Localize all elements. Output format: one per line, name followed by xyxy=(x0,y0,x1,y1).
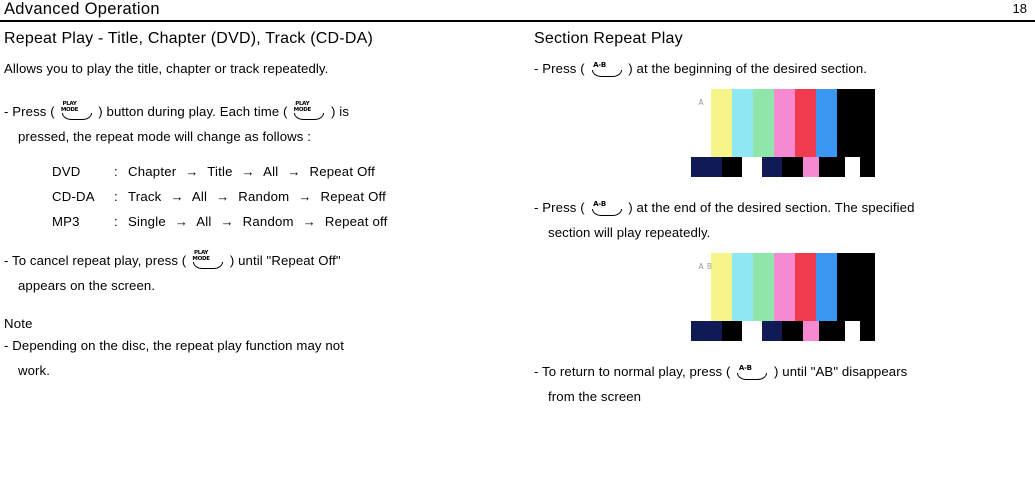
left-bullet-1: - Press ( PLAY MODE ) button during play… xyxy=(4,99,524,124)
ab-button-icon[interactable]: A-B xyxy=(590,60,624,77)
mode-step: Single xyxy=(128,214,166,229)
arrow-right-icon: → xyxy=(170,214,193,229)
bar-red xyxy=(795,89,816,157)
color-bars xyxy=(691,253,875,321)
button-cap-shape xyxy=(193,262,223,269)
strip-white xyxy=(845,321,860,341)
left-section-title: Repeat Play - Title, Chapter (DVD), Trac… xyxy=(4,30,524,48)
osd-text: A xyxy=(699,98,705,107)
arrow-right-icon: → xyxy=(293,189,316,204)
ab-button-icon[interactable]: A-B xyxy=(590,199,624,216)
ab-button-label: A-B xyxy=(590,62,624,69)
bar-black xyxy=(837,253,874,321)
bar-red xyxy=(795,253,816,321)
left-bullet-1-line2: pressed, the repeat mode will change as … xyxy=(4,124,524,149)
color-bars xyxy=(691,89,875,157)
table-row: CD-DA : Track → All → Random → Repeat Of… xyxy=(52,184,387,209)
bar-magenta xyxy=(774,89,795,157)
bullet-2-text-pre: - To cancel repeat play, press ( xyxy=(4,253,186,268)
mode-step: Repeat Off xyxy=(320,189,386,204)
mode-step: Random xyxy=(238,189,289,204)
arrow-right-icon: → xyxy=(298,214,321,229)
arrow-right-icon: → xyxy=(215,214,238,229)
strip-black xyxy=(819,321,845,341)
bullet-1-text-mid: ) button during play. Each time ( xyxy=(98,104,287,119)
right-bullet-3-line2: from the screen xyxy=(534,384,1031,409)
right-bullet-1: - Press ( A-B ) at the beginning of the … xyxy=(534,56,1031,81)
mode-name-mp3: MP3 xyxy=(52,209,114,234)
lower-pattern-strip xyxy=(691,157,875,177)
page-number: 18 xyxy=(1013,1,1027,16)
mode-sequence-cdda: Track → All → Random → Repeat Off xyxy=(128,184,387,209)
play-mode-button-label: PLAY MODE xyxy=(60,102,94,113)
strip-navy xyxy=(691,157,722,177)
tv-screen-illustration-1: A xyxy=(691,89,875,177)
note-line-1: - Depending on the disc, the repeat play… xyxy=(4,333,524,358)
lower-pattern-strip xyxy=(691,321,875,341)
mode-step: All xyxy=(196,214,211,229)
mode-sequence-mp3: Single → All → Random → Repeat off xyxy=(128,209,387,234)
mode-colon: : xyxy=(114,209,128,234)
ab-button-label: A-B xyxy=(590,201,624,208)
left-bullet-2: - To cancel repeat play, press ( PLAY MO… xyxy=(4,248,524,273)
table-row: DVD : Chapter → Title → All → Repeat Off xyxy=(52,159,387,184)
strip-black xyxy=(782,157,802,177)
strip-black xyxy=(722,157,742,177)
arrow-right-icon: → xyxy=(180,164,203,179)
ab-button-icon[interactable]: A-B xyxy=(735,363,769,380)
ab-label-line1: A-B xyxy=(735,365,769,372)
bar-cyan xyxy=(732,253,753,321)
bar-blue xyxy=(816,89,837,157)
note-heading: Note xyxy=(4,316,524,331)
ab-label-line1: A-B xyxy=(590,62,624,69)
bar-yellow xyxy=(711,253,732,321)
right-bullet-3: - To return to normal play, press ( A-B … xyxy=(534,359,1031,384)
strip-navy xyxy=(762,157,782,177)
bar-yellow xyxy=(711,89,732,157)
bullet-1-text-post: ) is xyxy=(331,104,349,119)
arrow-right-icon: → xyxy=(282,164,305,179)
bullet-1-text-pre: - Press ( xyxy=(4,104,55,119)
bar-cyan xyxy=(732,89,753,157)
bar-black xyxy=(837,89,874,157)
mode-step: Title xyxy=(207,164,232,179)
repeat-mode-table: DVD : Chapter → Title → All → Repeat Off… xyxy=(52,159,387,234)
spacer xyxy=(534,341,1031,359)
mode-step: All xyxy=(192,189,207,204)
strip-white xyxy=(845,157,860,177)
right-bullet-2-line2: section will play repeatedly. xyxy=(534,220,1031,245)
button-cap-shape xyxy=(592,70,622,77)
spacer xyxy=(534,81,1031,89)
spacer xyxy=(534,245,1031,253)
bullet-1-text-post: ) at the beginning of the desired sectio… xyxy=(628,61,867,76)
page-title: Advanced Operation xyxy=(4,0,160,19)
button-cap-shape xyxy=(62,113,92,120)
page-header: Advanced Operation 18 xyxy=(0,0,1035,22)
bar-blue xyxy=(816,253,837,321)
mode-step: All xyxy=(263,164,278,179)
arrow-right-icon: → xyxy=(237,164,260,179)
spacer xyxy=(4,238,524,248)
osd-text: A B xyxy=(699,262,713,271)
play-mode-button-label: PLAY MODE xyxy=(191,251,225,262)
note-line-2: work. xyxy=(4,358,524,383)
left-column: Repeat Play - Title, Chapter (DVD), Trac… xyxy=(4,30,524,383)
mode-colon: : xyxy=(114,159,128,184)
tv-screen-illustration-2: A B xyxy=(691,253,875,341)
spacer xyxy=(4,81,524,99)
bar-magenta xyxy=(774,253,795,321)
arrow-right-icon: → xyxy=(211,189,234,204)
right-column: Section Repeat Play - Press ( A-B ) at t… xyxy=(534,30,1031,409)
strip-black xyxy=(819,157,845,177)
strip-black xyxy=(860,157,875,177)
mode-step: Repeat off xyxy=(325,214,388,229)
screen-illustration-1-wrap: A xyxy=(534,89,1031,177)
play-mode-button-icon[interactable]: PLAY MODE xyxy=(191,252,225,269)
mode-step: Random xyxy=(243,214,294,229)
mode-sequence-dvd: Chapter → Title → All → Repeat Off xyxy=(128,159,387,184)
left-intro-text: Allows you to play the title, chapter or… xyxy=(4,56,524,81)
play-mode-button-label: PLAY MODE xyxy=(292,102,326,113)
button-cap-shape xyxy=(592,209,622,216)
ab-label-line1: A-B xyxy=(590,201,624,208)
ab-button-label: A-B xyxy=(735,365,769,372)
mode-step: Repeat Off xyxy=(309,164,375,179)
mode-name-dvd: DVD xyxy=(52,159,114,184)
table-row: MP3 : Single → All → Random → Repeat off xyxy=(52,209,387,234)
bar-green xyxy=(753,89,774,157)
button-cap-shape xyxy=(737,373,767,380)
strip-black xyxy=(782,321,802,341)
bullet-2-text-post: ) at the end of the desired section. The… xyxy=(628,200,914,215)
bullet-3-text-post: ) until "AB" disappears xyxy=(774,364,907,379)
right-bullet-2: - Press ( A-B ) at the end of the desire… xyxy=(534,195,1031,220)
right-section-title: Section Repeat Play xyxy=(534,30,1031,48)
strip-black xyxy=(860,321,875,341)
strip-white xyxy=(742,157,762,177)
button-cap-shape xyxy=(294,113,324,120)
strip-black xyxy=(722,321,742,341)
spacer xyxy=(534,177,1031,195)
screen-illustration-2-wrap: A B xyxy=(534,253,1031,341)
bullet-2-text-pre: - Press ( xyxy=(534,200,585,215)
arrow-right-icon: → xyxy=(165,189,188,204)
mode-step: Chapter xyxy=(128,164,176,179)
mode-name-cdda: CD-DA xyxy=(52,184,114,209)
play-mode-button-icon[interactable]: PLAY MODE xyxy=(60,103,94,120)
bullet-3-text-pre: - To return to normal play, press ( xyxy=(534,364,731,379)
strip-navy xyxy=(691,321,722,341)
strip-white xyxy=(742,321,762,341)
mode-step: Track xyxy=(128,189,161,204)
strip-magenta xyxy=(803,321,820,341)
mode-colon: : xyxy=(114,184,128,209)
play-mode-button-icon[interactable]: PLAY MODE xyxy=(292,103,326,120)
bar-green xyxy=(753,253,774,321)
left-bullet-2-line2: appears on the screen. xyxy=(4,273,524,298)
spacer xyxy=(4,298,524,316)
bullet-1-text-pre: - Press ( xyxy=(534,61,585,76)
strip-navy xyxy=(762,321,782,341)
bullet-2-text-post: ) until "Repeat Off" xyxy=(230,253,341,268)
strip-magenta xyxy=(803,157,820,177)
